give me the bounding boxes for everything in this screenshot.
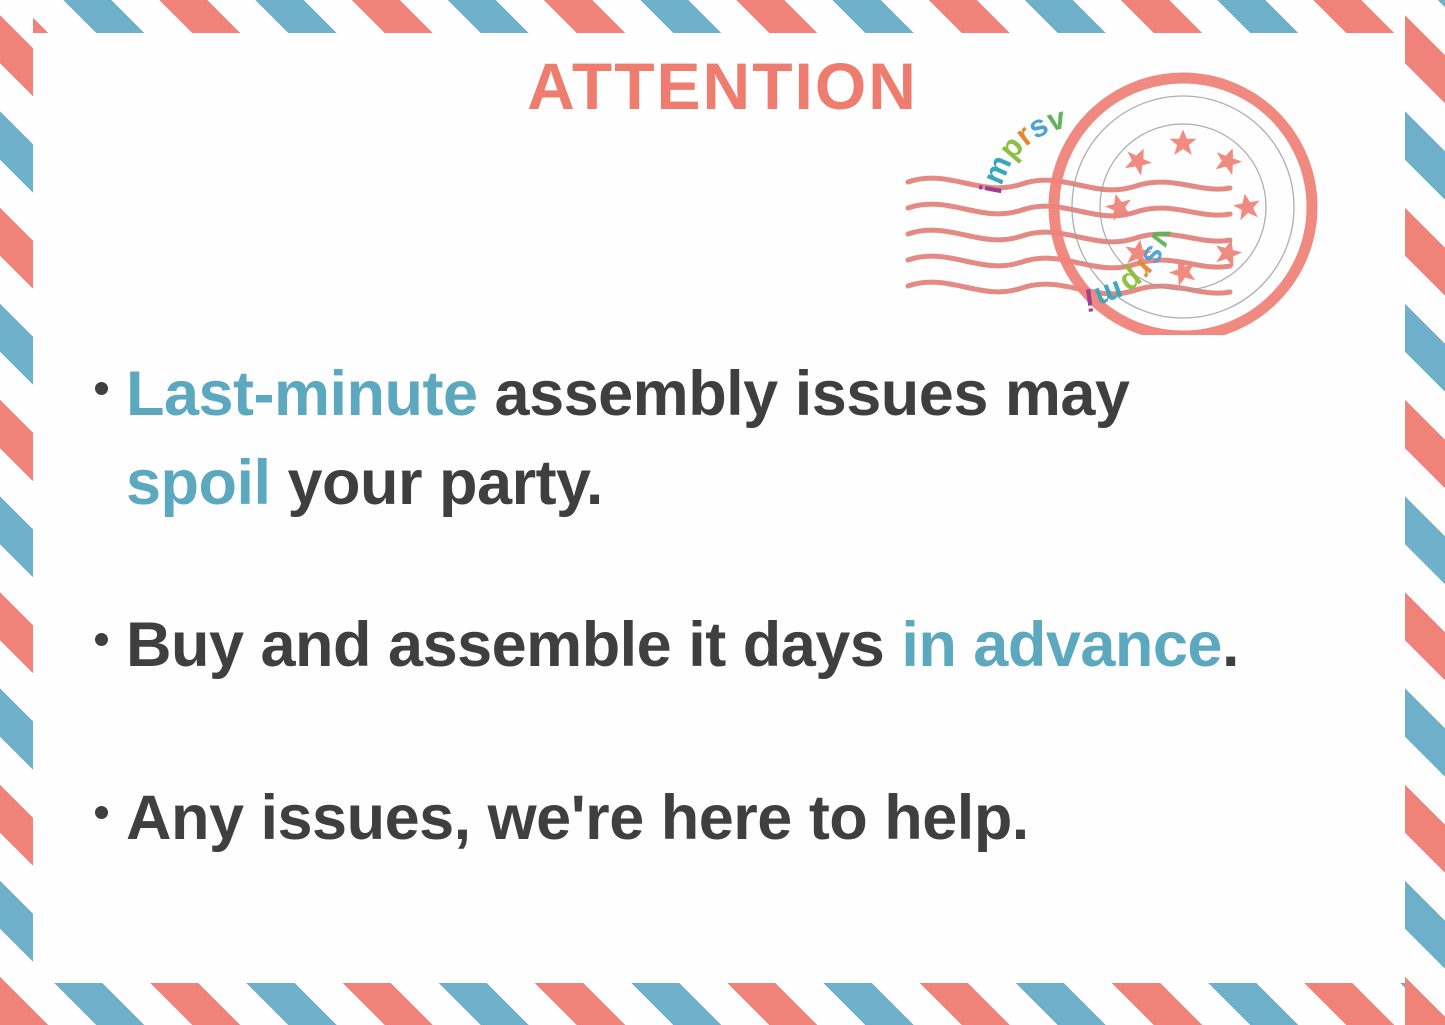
text-your-party: your party.: [271, 448, 603, 518]
bullet-here-to-help-text: Any issues, we're here to help.: [126, 774, 1029, 863]
bullet-buy-in-advance-text: Buy and assemble it days in advance.: [126, 601, 1239, 690]
highlight-last-minute: Last-minute: [126, 359, 495, 429]
highlight-spoil: spoil: [126, 448, 271, 518]
bullet-last-minute-text: Last-minute assembly issues may spoil yo…: [126, 350, 1186, 529]
bullet-last-minute: Last-minute assembly issues may spoil yo…: [95, 350, 1390, 529]
airmail-notice-card: ATTENTION: [0, 0, 1445, 1025]
highlight-in-advance: in advance: [901, 610, 1222, 680]
bullet-dot-icon: [95, 382, 108, 395]
text-period: .: [1222, 610, 1239, 680]
text-buy-and-assemble: Buy and assemble it days: [126, 610, 901, 680]
postmark-stamp-icon: imprsv vsrpmi: [900, 60, 1370, 335]
bullet-here-to-help: Any issues, we're here to help.: [95, 774, 1390, 863]
card-content: ATTENTION: [0, 0, 1445, 1025]
text-assembly-issues: assembly issues may: [495, 359, 1130, 429]
notice-bullet-list: Last-minute assembly issues may spoil yo…: [95, 350, 1390, 936]
bullet-dot-icon: [95, 633, 108, 646]
text-any-issues: Any issues, we're here to help.: [126, 783, 1029, 853]
bullet-dot-icon: [95, 806, 108, 819]
bullet-buy-in-advance: Buy and assemble it days in advance.: [95, 601, 1390, 690]
